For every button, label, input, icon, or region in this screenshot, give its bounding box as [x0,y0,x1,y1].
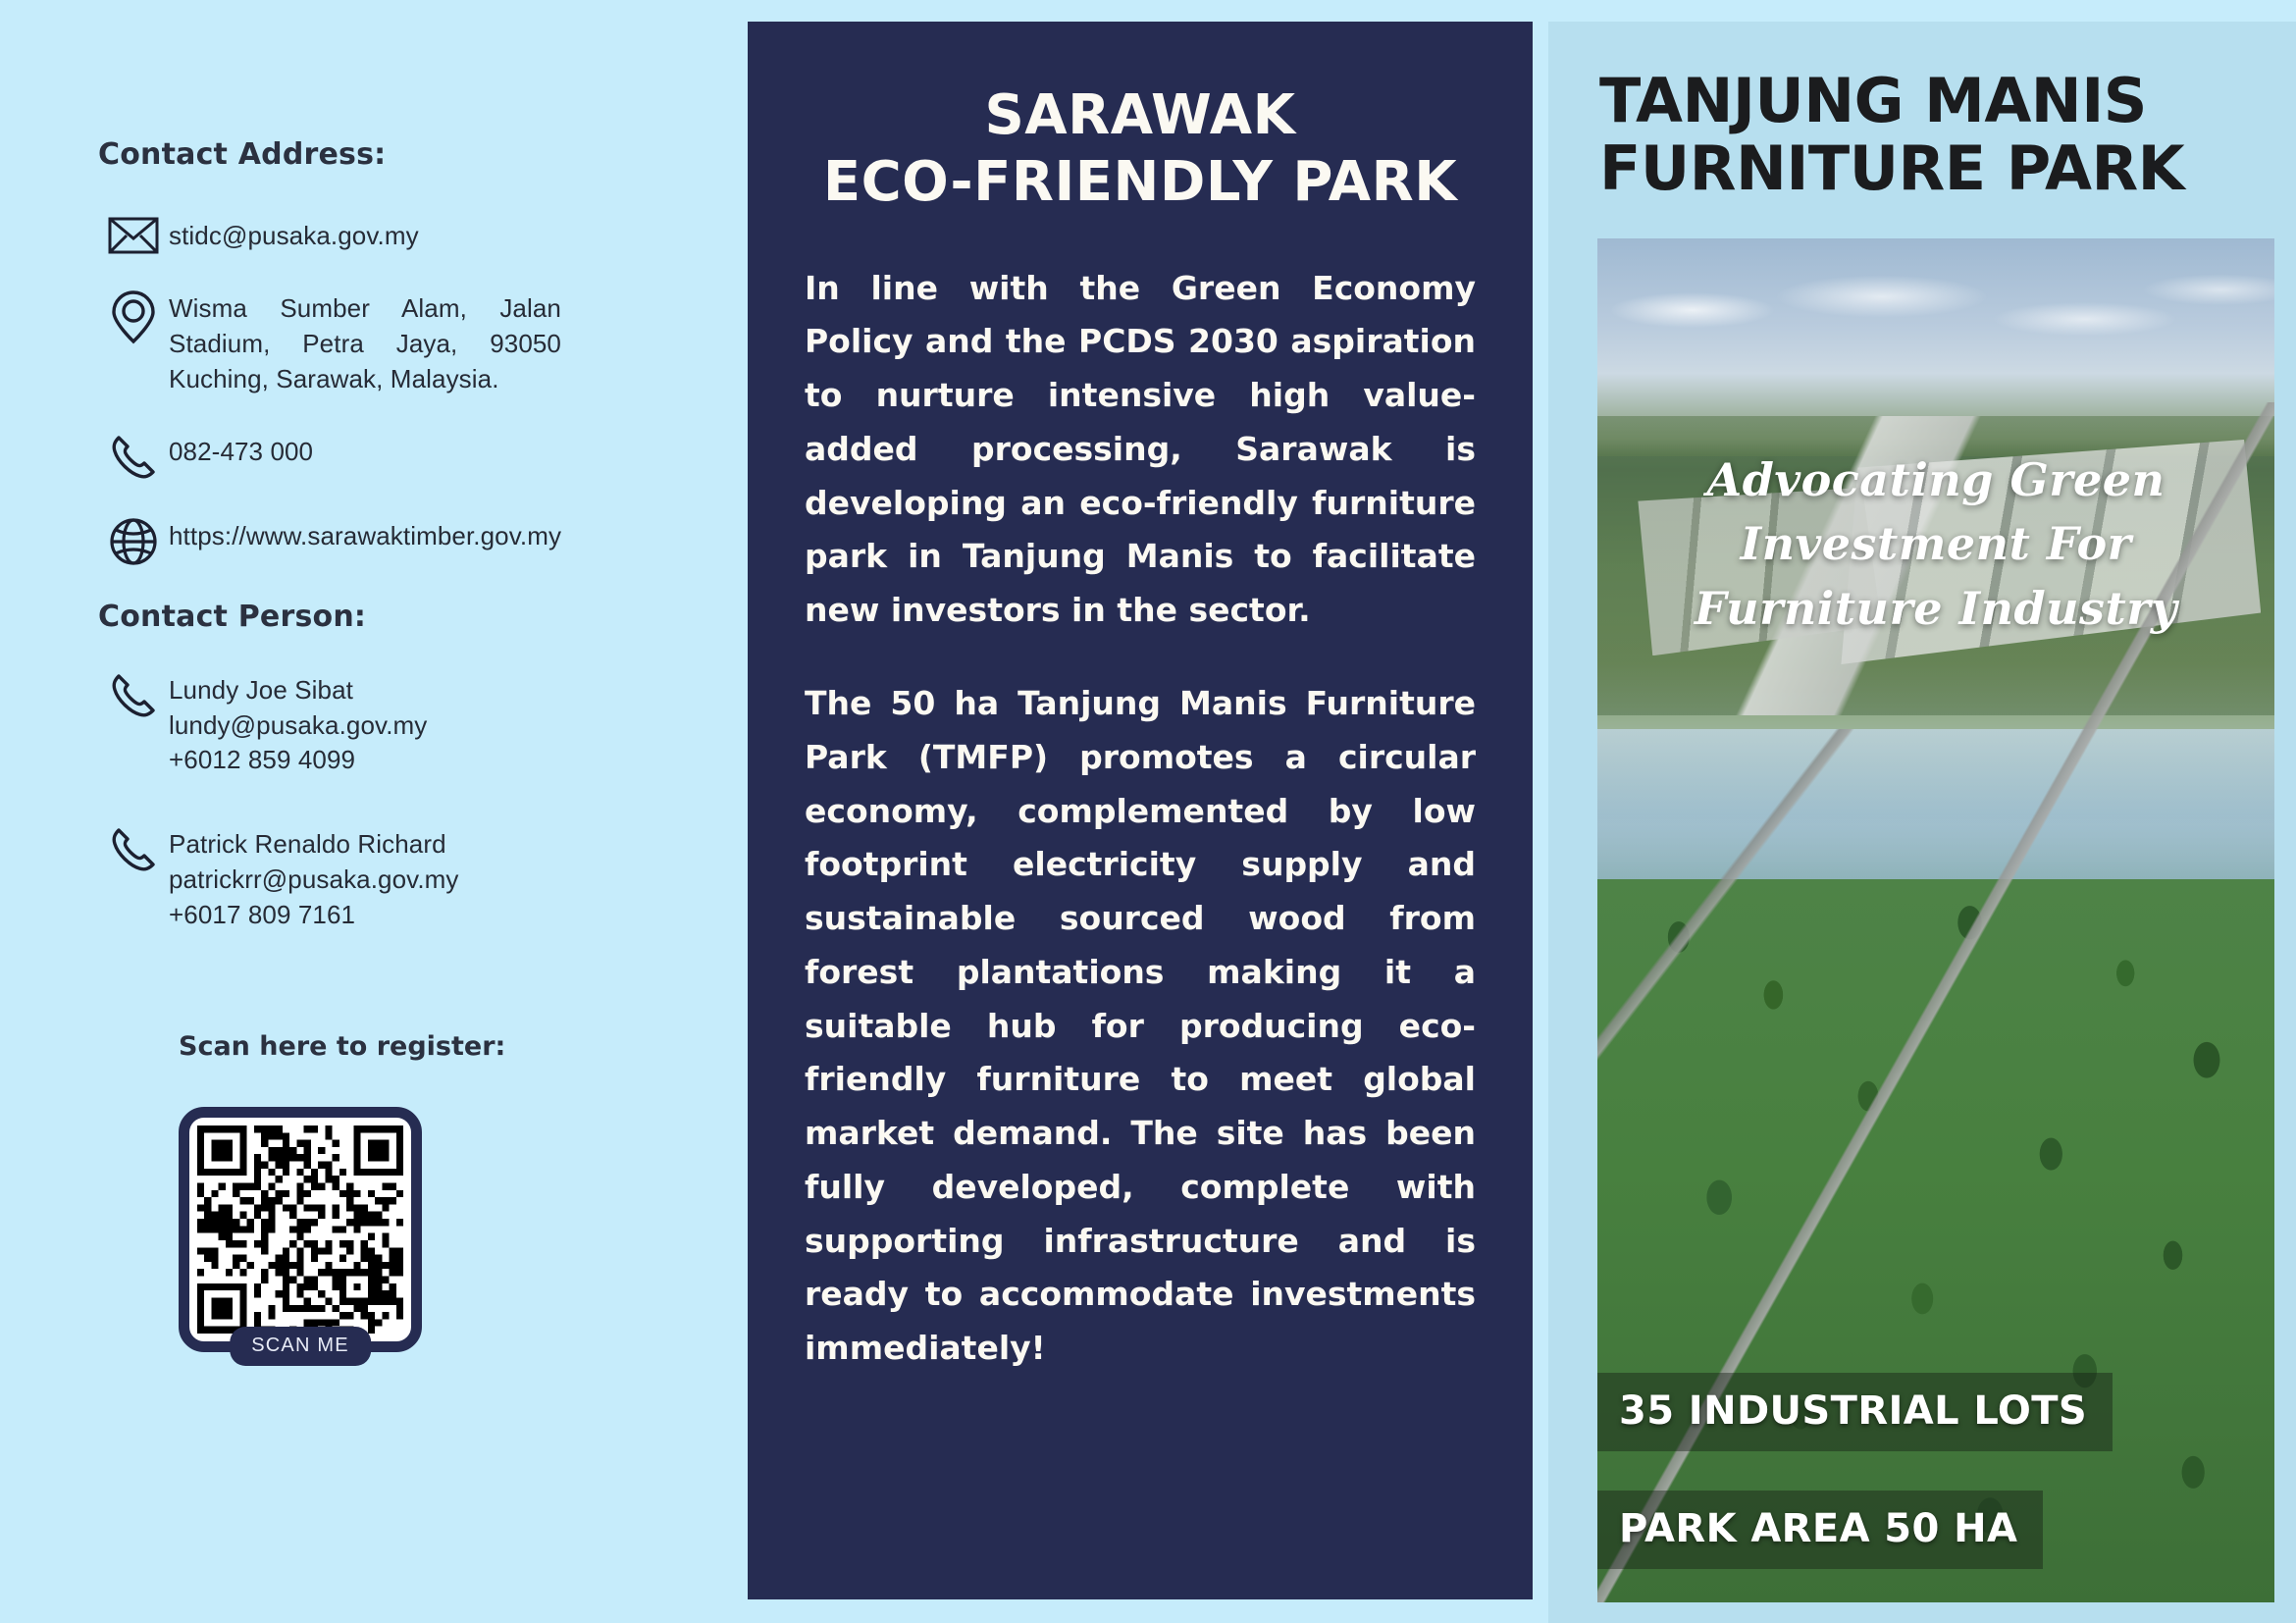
center-title-line2: ECO-FRIENDLY PARK [805,149,1476,216]
scan-me-badge: SCAN ME [230,1327,371,1366]
qr-code-block[interactable]: SCAN ME [179,1107,422,1352]
photo-secondary-road-layer [1597,729,2274,1602]
caption-park-area: PARK AREA 50 HA [1597,1491,2043,1569]
location-pin-icon [98,288,169,344]
contact-person-1: Lundy Joe Sibat lundy@pusaka.gov.my +601… [98,669,679,779]
center-paragraph-1: In line with the Green Economy Policy an… [805,262,1476,638]
contact-address-text: Wisma Sumber Alam, Jalan Stadium, Petra … [169,288,561,397]
phone-icon [98,431,169,482]
center-paragraph-2: The 50 ha Tanjung Manis Furniture Park (… [805,677,1476,1376]
caption-industrial-lots: 35 INDUSTRIAL LOTS [1597,1373,2113,1451]
qr-code-image [197,1126,403,1334]
phone-icon [98,669,169,720]
cover-title: TANJUNG MANIS FURNITURE PARK [1599,67,2257,203]
contact-panel: Contact Address: stidc@pusaka.gov.my Wis… [0,0,748,1623]
center-info-panel: SARAWAK ECO-FRIENDLY PARK In line with t… [748,22,1533,1599]
envelope-icon [98,215,169,254]
center-title-line1: SARAWAK [984,83,1295,147]
contact-address-heading: Contact Address: [98,137,679,172]
contact-person-2: Patrick Renaldo Richard patrickrr@pusaka… [98,823,679,933]
tagline-line2: Furniture Industry [1617,577,2255,641]
contact-phone-text: 082-473 000 [169,431,313,470]
contact-person-1-details: Lundy Joe Sibat lundy@pusaka.gov.my +601… [169,669,427,779]
contact-website-row: https://www.sarawaktimber.gov.my [98,515,679,566]
person-email: lundy@pusaka.gov.my [169,708,427,744]
center-panel-title: SARAWAK ECO-FRIENDLY PARK [805,82,1476,217]
contact-phone-row: 082-473 000 [98,431,679,482]
globe-icon [98,515,169,566]
contact-email-text: stidc@pusaka.gov.my [169,215,419,254]
person-phone: +6017 809 7161 [169,898,459,933]
contact-person-2-details: Patrick Renaldo Richard patrickrr@pusaka… [169,823,459,933]
cover-title-line2: FURNITURE PARK [1599,134,2257,202]
qr-code-frame [179,1107,422,1352]
scan-register-label: Scan here to register: [179,1031,679,1062]
brochure-page: Contact Address: stidc@pusaka.gov.my Wis… [0,0,2296,1623]
tagline-line1: Advocating Green Investment For [1707,453,2166,570]
phone-icon [98,823,169,874]
contact-person-heading: Contact Person: [98,600,679,634]
photo-tagline: Advocating Green Investment For Furnitur… [1597,448,2274,641]
person-email: patrickrr@pusaka.gov.my [169,863,459,898]
contact-email-row: stidc@pusaka.gov.my [98,215,679,254]
contact-website-text: https://www.sarawaktimber.gov.my [169,515,561,554]
cover-panel: TANJUNG MANIS FURNITURE PARK Advocating … [1548,22,2296,1623]
person-name: Lundy Joe Sibat [169,673,427,708]
contact-address-row: Wisma Sumber Alam, Jalan Stadium, Petra … [98,288,679,397]
aerial-photo: Advocating Green Investment For Furnitur… [1597,238,2274,1602]
cover-title-line1: TANJUNG MANIS [1599,65,2147,136]
person-name: Patrick Renaldo Richard [169,827,459,863]
person-phone: +6012 859 4099 [169,743,427,778]
